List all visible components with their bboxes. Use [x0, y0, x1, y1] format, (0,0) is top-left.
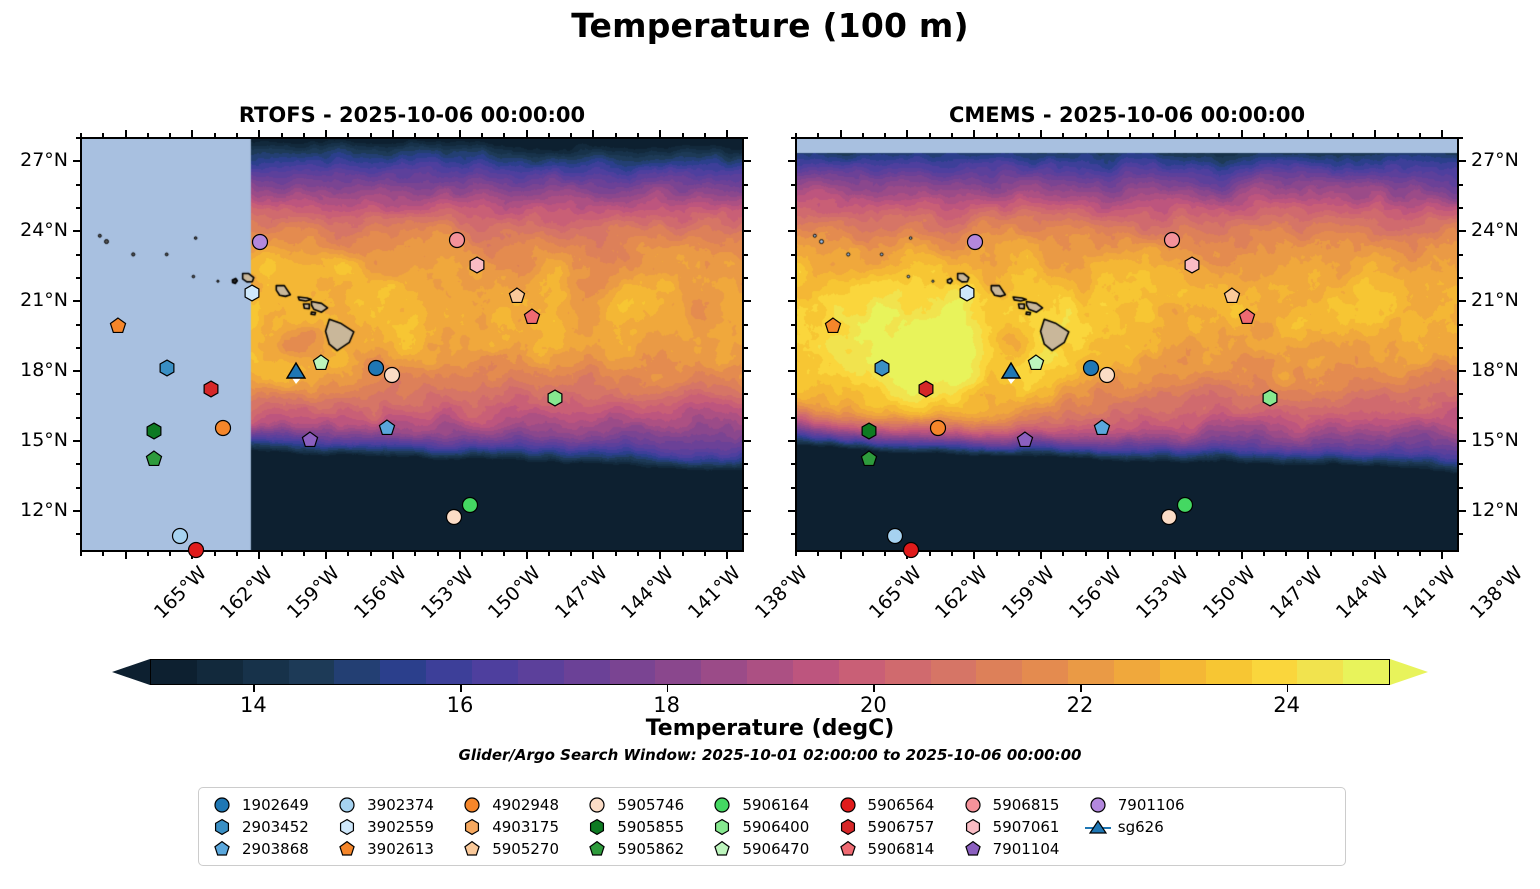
colorbar-tick-label: 14 — [240, 693, 267, 717]
lon-minor-tick — [481, 552, 483, 556]
colorbar-extend-low — [112, 659, 150, 685]
lat-minor-tick — [76, 347, 80, 349]
lon-minor-tick — [929, 133, 931, 137]
temperature-field-cmems — [797, 139, 1459, 552]
lon-minor-tick — [884, 133, 886, 137]
colorbar-swatch — [1114, 660, 1160, 684]
lon-tick-label: 162°W — [216, 562, 277, 623]
observation-marker-5905746[interactable] — [382, 365, 401, 384]
colorbar-tick — [1080, 685, 1082, 692]
lon-minor-tick — [951, 552, 953, 556]
legend-item-5905862[interactable]: 5905862 — [584, 839, 709, 859]
lat-tick — [73, 230, 80, 232]
lon-minor-tick — [704, 133, 706, 137]
lon-tick — [1174, 552, 1176, 559]
lat-tick-label: 12°N — [0, 499, 68, 521]
colorbar[interactable]: 141618202224 — [112, 659, 1428, 685]
lon-tick — [726, 130, 728, 137]
lat-minor-tick — [1459, 393, 1463, 395]
legend-marker-circle-icon — [584, 796, 610, 814]
lon-minor-tick — [817, 133, 819, 137]
observation-marker-5905270[interactable] — [507, 286, 526, 305]
lat-minor-tick — [76, 277, 80, 279]
legend-marker-circle-icon — [960, 796, 986, 814]
legend-item-5905270[interactable]: 5905270 — [459, 839, 584, 859]
lon-minor-tick — [214, 552, 216, 556]
lat-tick-label: 18°N — [1471, 359, 1519, 381]
lat-tick — [744, 230, 751, 232]
lon-minor-tick — [281, 133, 283, 137]
observation-marker-5906814[interactable] — [523, 307, 542, 326]
lon-minor-tick — [637, 133, 639, 137]
colorbar-swatch — [1022, 660, 1068, 684]
lon-tick-label: 156°W — [1065, 562, 1126, 623]
lon-tick-label: 150°W — [1199, 562, 1260, 623]
lon-tick — [1107, 552, 1109, 559]
lon-tick — [1040, 130, 1042, 137]
lon-tick — [1374, 552, 1376, 559]
legend-item-5906757[interactable]: 5906757 — [835, 817, 960, 837]
lat-minor-tick — [1459, 463, 1463, 465]
lon-minor-tick — [1085, 552, 1087, 556]
colorbar-extend-high — [1390, 659, 1428, 685]
lon-minor-tick — [1062, 552, 1064, 556]
legend-label: sg626 — [1118, 818, 1164, 836]
observation-marker-5905855[interactable] — [144, 421, 163, 440]
lat-minor-tick — [791, 393, 795, 395]
observation-marker-5905270[interactable] — [1222, 286, 1241, 305]
observation-marker-2903452[interactable] — [157, 358, 176, 377]
lon-minor-tick — [1330, 552, 1332, 556]
legend-marker-pentagon-icon — [334, 840, 360, 858]
legend-marker-circle-icon — [334, 796, 360, 814]
legend-marker-hexagon-icon — [709, 818, 735, 836]
observation-marker-5907061[interactable] — [1182, 256, 1201, 275]
legend-item-5906400[interactable]: 5906400 — [709, 817, 834, 837]
lon-minor-tick — [817, 552, 819, 556]
lon-tick — [592, 552, 594, 559]
colorbar-swatch — [610, 660, 656, 684]
lon-minor-tick — [1419, 133, 1421, 137]
legend-label: 4903175 — [492, 818, 559, 836]
observation-marker-5906814[interactable] — [1238, 307, 1257, 326]
lat-minor-tick — [1459, 324, 1463, 326]
lat-minor-tick — [744, 393, 748, 395]
lon-tick — [1107, 130, 1109, 137]
legend-item-4902948[interactable]: 4902948 — [459, 795, 584, 815]
legend-item-7901106[interactable]: 7901106 — [1085, 795, 1210, 815]
legend-label: 3902559 — [367, 818, 434, 836]
lon-minor-tick — [862, 552, 864, 556]
lon-tick-label: 165°W — [149, 562, 210, 623]
legend-label: 5905270 — [492, 840, 559, 858]
observation-marker-5906757[interactable] — [202, 379, 221, 398]
lat-minor-tick — [791, 487, 795, 489]
lat-minor-tick — [791, 277, 795, 279]
lon-minor-tick — [169, 133, 171, 137]
colorbar-tick — [873, 685, 875, 692]
legend-marker-hexagon-icon — [334, 818, 360, 836]
lat-tick — [1459, 300, 1466, 302]
lon-minor-tick — [615, 552, 617, 556]
lon-minor-tick — [1330, 133, 1332, 137]
lat-minor-tick — [791, 347, 795, 349]
observation-marker-7901104[interactable] — [300, 431, 319, 450]
legend-label: 5905862 — [617, 840, 684, 858]
legend-item-4903175[interactable]: 4903175 — [459, 817, 584, 837]
lat-minor-tick — [76, 184, 80, 186]
observation-marker-5906164[interactable] — [1175, 496, 1194, 515]
colorbar-swatch — [289, 660, 335, 684]
lat-minor-tick — [791, 184, 795, 186]
lat-tick-label: 21°N — [1471, 289, 1519, 311]
lon-minor-tick — [570, 133, 572, 137]
lat-minor-tick — [1459, 137, 1463, 139]
lat-minor-tick — [1459, 254, 1463, 256]
lon-minor-tick — [169, 552, 171, 556]
lon-tick — [258, 130, 260, 137]
legend-marker-pentagon-icon — [835, 840, 861, 858]
lon-minor-tick — [80, 133, 82, 137]
lat-minor-tick — [76, 324, 80, 326]
lat-tick-label: 12°N — [1471, 499, 1519, 521]
lat-tick — [73, 510, 80, 512]
lon-tick-label: 147°W — [551, 562, 612, 623]
lon-minor-tick — [1152, 133, 1154, 137]
observation-marker-5905746[interactable] — [1097, 365, 1116, 384]
map-panel-rtofs[interactable] — [80, 137, 744, 552]
lat-minor-tick — [76, 393, 80, 395]
legend-marker-circle-icon — [835, 796, 861, 814]
lon-minor-tick — [1196, 552, 1198, 556]
lon-tick-label: 153°W — [417, 562, 478, 623]
observation-marker-5906757[interactable] — [917, 379, 936, 398]
legend-item-5906815[interactable]: 5906815 — [960, 795, 1085, 815]
lat-tick-label: 18°N — [0, 359, 68, 381]
lon-minor-tick — [147, 133, 149, 137]
observation-marker-5906564[interactable] — [901, 540, 920, 559]
lat-tick-label: 15°N — [0, 429, 68, 451]
legend-item-7901104[interactable]: 7901104 — [960, 839, 1085, 859]
lon-minor-tick — [682, 552, 684, 556]
lon-minor-tick — [884, 552, 886, 556]
legend-item-1902649[interactable]: 1902649 — [209, 795, 334, 815]
legend-label: 7901106 — [1118, 796, 1185, 814]
colorbar-gradient — [150, 659, 1390, 685]
lon-tick — [973, 130, 975, 137]
lat-tick-label: 24°N — [0, 219, 68, 241]
lat-minor-tick — [744, 207, 748, 209]
observation-marker-5906815[interactable] — [1162, 230, 1181, 249]
observation-marker-4902948[interactable] — [928, 419, 947, 438]
lon-minor-tick — [1085, 133, 1087, 137]
lat-tick — [788, 160, 795, 162]
observation-marker-3902559[interactable] — [957, 284, 976, 303]
observation-marker-4902948[interactable] — [213, 419, 232, 438]
lon-minor-tick — [80, 552, 82, 556]
lon-tick-label: 147°W — [1266, 562, 1327, 623]
colorbar-swatch — [564, 660, 610, 684]
lon-minor-tick — [704, 552, 706, 556]
lon-tick-label: 159°W — [998, 562, 1059, 623]
lon-minor-tick — [1397, 552, 1399, 556]
lon-tick-label: 156°W — [350, 562, 411, 623]
lon-minor-tick — [503, 552, 505, 556]
legend-item-2903868[interactable]: 2903868 — [209, 839, 334, 859]
legend-item-sg626[interactable]: sg626 — [1085, 817, 1210, 837]
lat-tick — [744, 510, 751, 512]
lon-minor-tick — [414, 552, 416, 556]
lon-minor-tick — [1062, 133, 1064, 137]
observation-marker-5905862[interactable] — [859, 449, 878, 468]
legend-item-5905855[interactable]: 5905855 — [584, 817, 709, 837]
lat-minor-tick — [76, 463, 80, 465]
legend-item-3902559[interactable]: 3902559 — [334, 817, 459, 837]
observation-marker-3902559[interactable] — [242, 284, 261, 303]
observation-marker-2903868[interactable] — [378, 419, 397, 438]
legend-item-2903452[interactable]: 2903452 — [209, 817, 334, 837]
lon-minor-tick — [1285, 133, 1287, 137]
lon-minor-tick — [347, 133, 349, 137]
lon-minor-tick — [1263, 552, 1265, 556]
lat-tick — [788, 300, 795, 302]
lon-tick — [1174, 130, 1176, 137]
lat-tick-label: 24°N — [1471, 219, 1519, 241]
colorbar-swatch — [931, 660, 977, 684]
lon-tick — [258, 552, 260, 559]
lat-tick — [788, 440, 795, 442]
legend[interactable]: 1902649290345229038683902374390255939026… — [198, 787, 1346, 866]
lat-minor-tick — [791, 463, 795, 465]
lon-tick — [459, 552, 461, 559]
lat-minor-tick — [76, 533, 80, 535]
lon-minor-tick — [570, 552, 572, 556]
lon-minor-tick — [1018, 552, 1020, 556]
legend-label: 5907061 — [993, 818, 1060, 836]
lon-tick-label: 159°W — [283, 562, 344, 623]
lat-minor-tick — [76, 417, 80, 419]
lon-minor-tick — [147, 552, 149, 556]
observation-marker-5906470[interactable] — [1026, 354, 1045, 373]
observation-marker-5906400[interactable] — [545, 389, 564, 408]
lon-tick-label: 138°W — [1466, 562, 1527, 623]
legend-item-5906470[interactable]: 5906470 — [709, 839, 834, 859]
observation-marker-5906564[interactable] — [186, 540, 205, 559]
lat-minor-tick — [744, 137, 748, 139]
lat-tick — [744, 300, 751, 302]
lon-tick-label: 162°W — [931, 562, 992, 623]
lat-minor-tick — [791, 417, 795, 419]
lon-minor-tick — [615, 133, 617, 137]
lon-minor-tick — [1218, 133, 1220, 137]
observation-marker-5906164[interactable] — [460, 496, 479, 515]
lat-minor-tick — [1459, 487, 1463, 489]
observation-marker-3902613[interactable] — [823, 316, 842, 335]
search-window-caption: Glider/Argo Search Window: 2025-10-01 02… — [0, 746, 1540, 764]
lon-tick — [973, 552, 975, 559]
lat-minor-tick — [1459, 277, 1463, 279]
lon-tick — [1241, 552, 1243, 559]
lon-minor-tick — [996, 552, 998, 556]
legend-marker-hexagon-icon — [209, 818, 235, 836]
lon-minor-tick — [503, 133, 505, 137]
colorbar-swatch — [839, 660, 885, 684]
colorbar-swatch — [976, 660, 1022, 684]
lat-minor-tick — [1459, 347, 1463, 349]
colorbar-swatch — [334, 660, 380, 684]
legend-marker-circle-icon — [709, 796, 735, 814]
legend-grid: 1902649290345229038683902374390255939026… — [209, 795, 1335, 859]
lon-tick — [840, 552, 842, 559]
lat-minor-tick — [1459, 207, 1463, 209]
legend-label: 5906400 — [742, 818, 809, 836]
colorbar-swatch — [380, 660, 426, 684]
legend-label: 5906470 — [742, 840, 809, 858]
legend-label: 3902374 — [367, 796, 434, 814]
lon-tick — [1307, 130, 1309, 137]
lon-minor-tick — [1152, 552, 1154, 556]
legend-item-5907061[interactable]: 5907061 — [960, 817, 1085, 837]
legend-marker-hexagon-icon — [584, 818, 610, 836]
lon-minor-tick — [1129, 552, 1131, 556]
observation-marker-2903868[interactable] — [1093, 419, 1112, 438]
lat-minor-tick — [744, 463, 748, 465]
lat-minor-tick — [1459, 417, 1463, 419]
lon-minor-tick — [1196, 133, 1198, 137]
lat-tick-label: 27°N — [0, 149, 68, 171]
lon-tick-label: 138°W — [751, 562, 812, 623]
lat-minor-tick — [744, 324, 748, 326]
lat-minor-tick — [76, 487, 80, 489]
lon-tick-label: 141°W — [1399, 562, 1460, 623]
lon-minor-tick — [370, 552, 372, 556]
lat-tick — [1459, 510, 1466, 512]
lon-tick-label: 153°W — [1132, 562, 1193, 623]
lat-tick — [73, 370, 80, 372]
legend-marker-pentagon-icon — [209, 840, 235, 858]
lat-minor-tick — [791, 137, 795, 139]
lat-tick — [1459, 160, 1466, 162]
observation-marker-7901106[interactable] — [966, 232, 985, 251]
lon-minor-tick — [102, 133, 104, 137]
observation-marker-5905855[interactable] — [859, 421, 878, 440]
lon-tick — [1040, 552, 1042, 559]
legend-item-5906164[interactable]: 5906164 — [709, 795, 834, 815]
observation-marker-5907061[interactable] — [467, 256, 486, 275]
lat-tick — [73, 440, 80, 442]
legend-label: 3902613 — [367, 840, 434, 858]
colorbar-axis-label: Temperature (degC) — [0, 716, 1540, 741]
lat-minor-tick — [76, 137, 80, 139]
lon-tick-label: 150°W — [484, 562, 545, 623]
lat-tick — [744, 370, 751, 372]
lon-minor-tick — [1129, 133, 1131, 137]
observation-marker-7901104[interactable] — [1015, 431, 1034, 450]
colorbar-swatch — [1206, 660, 1252, 684]
lon-minor-tick — [682, 133, 684, 137]
legend-item-5906814[interactable]: 5906814 — [835, 839, 960, 859]
lon-minor-tick — [548, 133, 550, 137]
observation-marker-5905862[interactable] — [144, 449, 163, 468]
lon-tick — [459, 130, 461, 137]
lat-minor-tick — [791, 533, 795, 535]
lon-minor-tick — [236, 133, 238, 137]
lon-minor-tick — [102, 552, 104, 556]
lon-tick — [906, 130, 908, 137]
lat-minor-tick — [1459, 184, 1463, 186]
lat-minor-tick — [744, 533, 748, 535]
legend-marker-hexagon-icon — [459, 818, 485, 836]
lon-tick — [1441, 552, 1443, 559]
lat-tick-label: 15°N — [1471, 429, 1519, 451]
lon-minor-tick — [414, 133, 416, 137]
observation-marker-5906470[interactable] — [311, 354, 330, 373]
legend-label: 5906164 — [742, 796, 809, 814]
lon-tick — [392, 130, 394, 137]
lon-minor-tick — [951, 133, 953, 137]
lat-minor-tick — [744, 487, 748, 489]
figure-title: Temperature (100 m) — [0, 6, 1540, 45]
lon-tick — [392, 552, 394, 559]
observation-marker-3902613[interactable] — [108, 316, 127, 335]
lon-tick — [325, 130, 327, 137]
lon-minor-tick — [303, 552, 305, 556]
legend-label: 7901104 — [993, 840, 1060, 858]
lat-minor-tick — [744, 347, 748, 349]
observation-marker-sg626[interactable] — [284, 359, 308, 385]
lon-tick-label: 144°W — [1332, 562, 1393, 623]
temperature-field-rtofs — [82, 139, 744, 552]
lat-minor-tick — [744, 277, 748, 279]
legend-item-5906564[interactable]: 5906564 — [835, 795, 960, 815]
colorbar-tick-label: 20 — [860, 693, 887, 717]
observation-marker-5906815[interactable] — [447, 230, 466, 249]
panel-title-cmems: CMEMS - 2025-10-06 00:00:00 — [795, 103, 1459, 127]
lat-tick — [788, 370, 795, 372]
observation-marker-2903452[interactable] — [872, 358, 891, 377]
lon-tick — [1307, 552, 1309, 559]
lat-tick — [788, 230, 795, 232]
colorbar-tick-label: 18 — [653, 693, 680, 717]
panel-title-rtofs: RTOFS - 2025-10-06 00:00:00 — [80, 103, 744, 127]
colorbar-swatch — [793, 660, 839, 684]
lat-minor-tick — [791, 254, 795, 256]
lat-tick — [73, 160, 80, 162]
legend-item-5905746[interactable]: 5905746 — [584, 795, 709, 815]
lon-minor-tick — [303, 133, 305, 137]
legend-label: 5905855 — [617, 818, 684, 836]
lon-tick-label: 144°W — [617, 562, 678, 623]
legend-marker-hexagon-icon — [960, 818, 986, 836]
lon-minor-tick — [996, 133, 998, 137]
observation-marker-7901106[interactable] — [251, 232, 270, 251]
lat-tick — [1459, 370, 1466, 372]
lon-minor-tick — [929, 552, 931, 556]
lon-minor-tick — [281, 552, 283, 556]
colorbar-swatch — [747, 660, 793, 684]
observation-marker-5906400[interactable] — [1260, 389, 1279, 408]
legend-item-3902374[interactable]: 3902374 — [334, 795, 459, 815]
observation-marker-sg626[interactable] — [999, 359, 1023, 385]
map-panel-cmems[interactable] — [795, 137, 1459, 552]
legend-label: 2903452 — [242, 818, 309, 836]
legend-item-3902613[interactable]: 3902613 — [334, 839, 459, 859]
legend-marker-circle-icon — [209, 796, 235, 814]
lat-tick — [788, 510, 795, 512]
lon-minor-tick — [437, 133, 439, 137]
lat-minor-tick — [791, 324, 795, 326]
legend-marker-pentagon-icon — [709, 840, 735, 858]
